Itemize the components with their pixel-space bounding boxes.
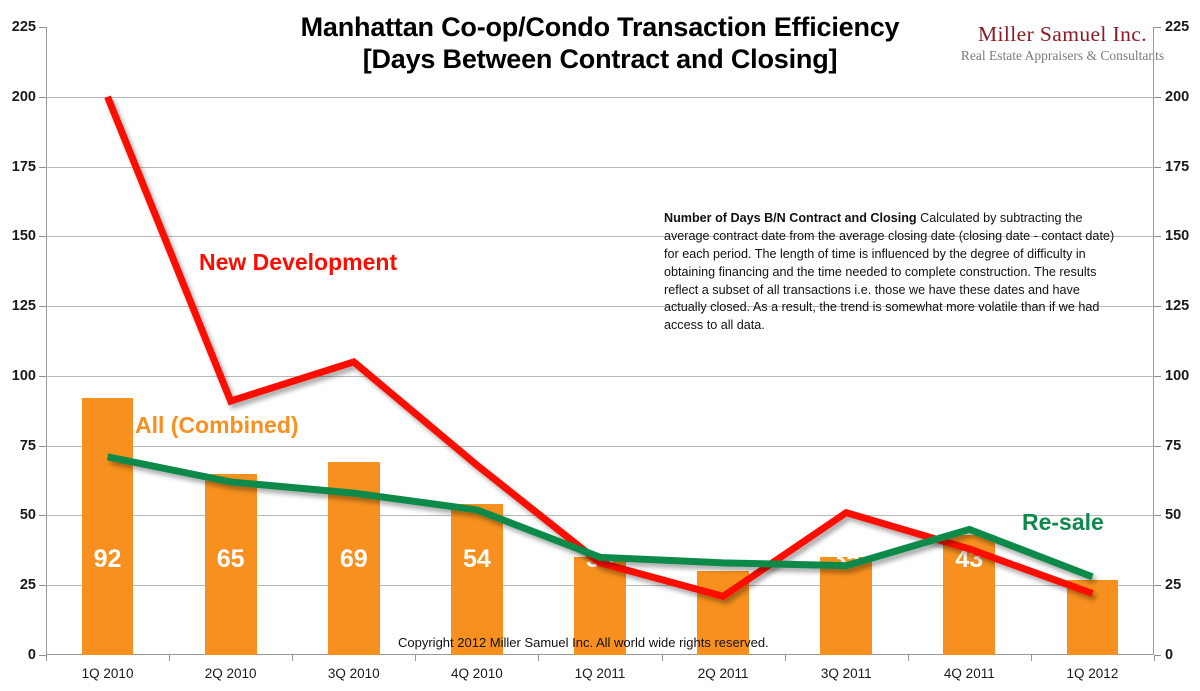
series-label-all-combined: All (Combined) (135, 414, 299, 437)
x-axis-tick-label: 3Q 2011 (785, 667, 908, 681)
y-axis-tick-label: 225 (1165, 20, 1200, 35)
axis-tick (1154, 27, 1161, 28)
gridline (46, 97, 1154, 98)
y-axis-tick-label: 175 (0, 160, 36, 175)
y-axis-right-line (1153, 27, 1154, 655)
x-axis-tick (292, 655, 293, 661)
x-axis-tick (538, 655, 539, 661)
y-axis-tick-label: 50 (1165, 508, 1200, 523)
axis-tick (1154, 306, 1161, 307)
bar-value-label: 43 (943, 547, 995, 572)
gridline (46, 446, 1154, 447)
x-axis-tick-label: 3Q 2010 (292, 667, 415, 681)
y-axis-tick-label: 200 (1165, 90, 1200, 105)
axis-tick (39, 585, 46, 586)
bar-value-label: 65 (205, 547, 257, 572)
y-axis-tick-label: 225 (0, 20, 36, 35)
x-axis-tick-label: 4Q 2011 (908, 667, 1031, 681)
plot-area: 926569543530354327 (46, 27, 1154, 655)
y-axis-tick-label: 50 (0, 508, 36, 523)
bar: 92 (82, 398, 134, 655)
methodology-note: Number of Days B/N Contract and Closing … (664, 210, 1116, 335)
methodology-note-body: Calculated by subtracting the average co… (664, 211, 1114, 332)
y-axis-left-line (46, 27, 47, 655)
x-axis-tick-label: 1Q 2011 (538, 667, 661, 681)
x-axis-tick (662, 655, 663, 661)
x-axis-tick (46, 655, 47, 661)
x-axis-tick (169, 655, 170, 661)
chart-container: Manhattan Co-op/Condo Transaction Effici… (0, 0, 1200, 691)
axis-tick (1154, 585, 1161, 586)
x-axis-tick (415, 655, 416, 661)
axis-tick (1154, 515, 1161, 516)
y-axis-tick-label: 0 (0, 648, 36, 663)
bar: 27 (1067, 580, 1119, 655)
y-axis-tick-label: 100 (1165, 369, 1200, 384)
bar-value-label: 27 (1067, 547, 1119, 572)
axis-tick (39, 376, 46, 377)
axis-tick (1154, 655, 1161, 656)
y-axis-tick-label: 75 (0, 439, 36, 454)
y-axis-tick-label: 25 (1165, 578, 1200, 593)
axis-tick (39, 167, 46, 168)
copyright-notice: Copyright 2012 Miller Samuel Inc. All wo… (398, 635, 769, 650)
y-axis-tick-label: 0 (1165, 648, 1200, 663)
series-label-new-development: New Development (199, 251, 397, 274)
x-axis-tick (908, 655, 909, 661)
x-axis-tick (1154, 655, 1155, 661)
axis-tick (1154, 236, 1161, 237)
x-axis-tick-label: 1Q 2012 (1031, 667, 1154, 681)
series-label-resale: Re-sale (1022, 511, 1104, 534)
bar: 54 (451, 504, 503, 655)
axis-tick (39, 236, 46, 237)
axis-tick (1154, 376, 1161, 377)
axis-tick (39, 306, 46, 307)
gridline (46, 376, 1154, 377)
gridline (46, 167, 1154, 168)
methodology-note-lead: Number of Days B/N Contract and Closing (664, 211, 917, 225)
y-axis-tick-label: 25 (0, 578, 36, 593)
y-axis-tick-label: 125 (0, 299, 36, 314)
x-axis-tick (1031, 655, 1032, 661)
bar-value-label: 69 (328, 547, 380, 572)
axis-tick (1154, 446, 1161, 447)
bar: 43 (943, 535, 995, 655)
axis-tick (39, 655, 46, 656)
bar-value-label: 35 (820, 547, 872, 572)
bar-value-label: 54 (451, 547, 503, 572)
y-axis-tick-label: 125 (1165, 299, 1200, 314)
x-axis-tick-label: 2Q 2011 (662, 667, 785, 681)
y-axis-tick-label: 150 (0, 229, 36, 244)
bar: 35 (820, 557, 872, 655)
x-axis-tick (785, 655, 786, 661)
axis-tick (39, 515, 46, 516)
y-axis-tick-label: 175 (1165, 160, 1200, 175)
axis-tick (1154, 167, 1161, 168)
x-axis-tick-label: 4Q 2010 (415, 667, 538, 681)
y-axis-tick-label: 200 (0, 90, 36, 105)
axis-tick (39, 97, 46, 98)
y-axis-tick-label: 150 (1165, 229, 1200, 244)
axis-tick (39, 27, 46, 28)
y-axis-tick-label: 100 (0, 369, 36, 384)
x-axis-tick-label: 2Q 2010 (169, 667, 292, 681)
bar: 65 (205, 474, 257, 655)
bar-value-label: 92 (82, 547, 134, 572)
bar: 69 (328, 462, 380, 655)
axis-tick (39, 446, 46, 447)
bar-value-label: 30 (697, 547, 749, 572)
y-axis-tick-label: 75 (1165, 439, 1200, 454)
x-axis-tick-label: 1Q 2010 (46, 667, 169, 681)
bar-value-label: 35 (574, 547, 626, 572)
axis-tick (1154, 97, 1161, 98)
